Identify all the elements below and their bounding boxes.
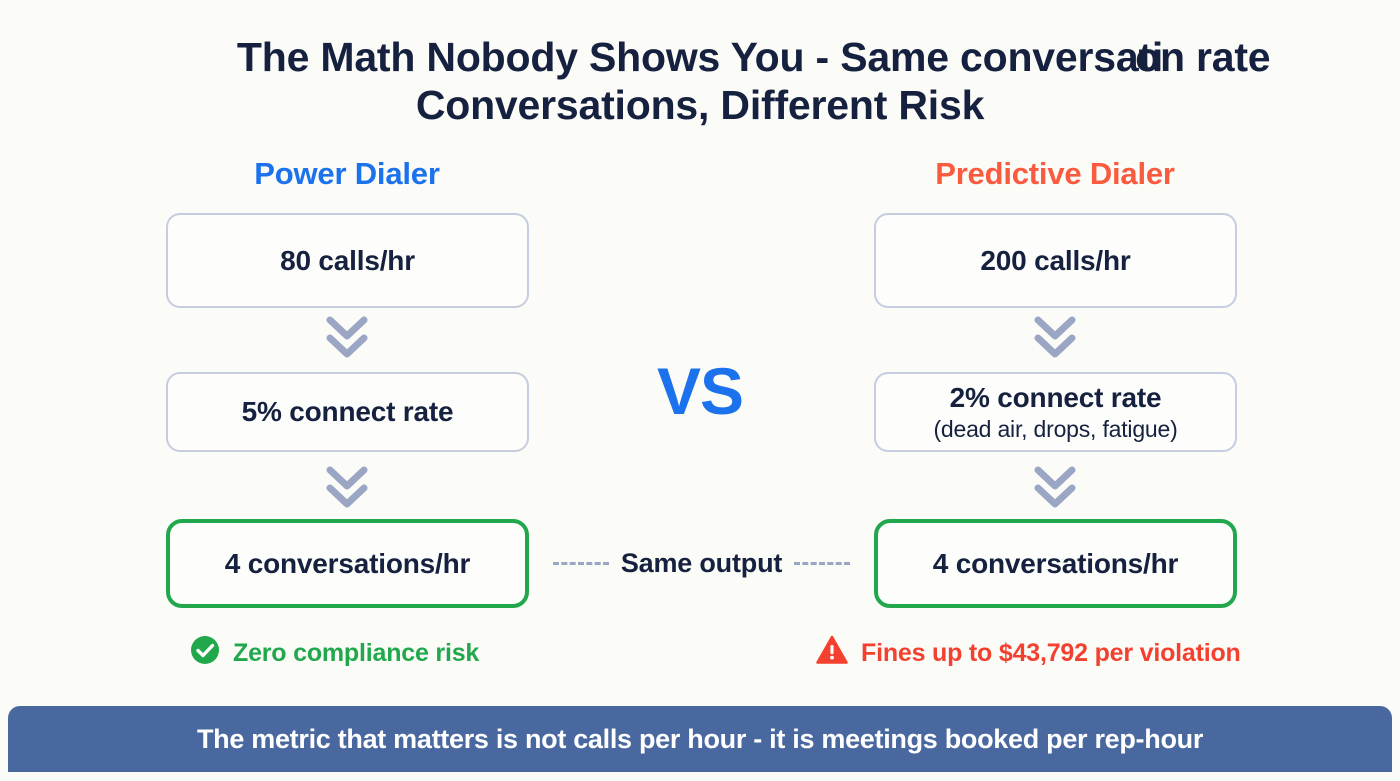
- right-footnote-label: Fines up to $43,792 per violation: [861, 639, 1241, 668]
- double-chevron-down-icon: [1028, 312, 1082, 360]
- column-heading-predictive-dialer: Predictive Dialer: [845, 156, 1265, 192]
- double-chevron-down-icon: [320, 312, 374, 360]
- right-outcome-value: 4 conversations/hr: [933, 548, 1178, 580]
- column-heading-power-dialer: Power Dialer: [137, 156, 557, 192]
- infographic-canvas: The Math Nobody Shows You - Same convers…: [0, 0, 1400, 781]
- page-title-line-2: Conversations, Different Risk: [0, 82, 1400, 129]
- left-outcome-box: 4 conversations/hr: [166, 519, 529, 608]
- same-output-label: Same output: [609, 548, 794, 579]
- right-outcome-box: 4 conversations/hr: [874, 519, 1237, 608]
- double-chevron-down-icon: [320, 462, 374, 510]
- check-circle-icon: [190, 635, 220, 672]
- left-step-1-box: 80 calls/hr: [166, 213, 529, 308]
- bottom-banner: The metric that matters is not calls per…: [8, 706, 1392, 772]
- left-step-1-value: 80 calls/hr: [280, 245, 415, 277]
- dashed-line-right: [794, 562, 850, 565]
- left-outcome-value: 4 conversations/hr: [225, 548, 470, 580]
- vs-label: VS: [0, 358, 1400, 424]
- page-title-line-1: The Math Nobody Shows You - Same convers…: [0, 34, 1400, 82]
- bottom-banner-text: The metric that matters is not calls per…: [197, 724, 1203, 755]
- left-footnote: Zero compliance risk: [190, 632, 479, 674]
- right-footnote: Fines up to $43,792 per violation: [816, 632, 1241, 674]
- dashed-line-left: [553, 562, 609, 565]
- same-output-connector: Same output: [529, 540, 874, 586]
- page-title: The Math Nobody Shows You - Same convers…: [0, 34, 1400, 129]
- right-step-1-box: 200 calls/hr: [874, 213, 1237, 308]
- double-chevron-down-icon: [1028, 462, 1082, 510]
- warning-triangle-icon: [816, 635, 848, 672]
- page-title-line-1-fragment-b: on rate: [1135, 34, 1270, 81]
- right-step-1-value: 200 calls/hr: [980, 245, 1130, 277]
- left-footnote-label: Zero compliance risk: [233, 639, 479, 668]
- page-title-line-1-fragment-a: The Math Nobody Shows You - Same convers…: [237, 34, 1163, 80]
